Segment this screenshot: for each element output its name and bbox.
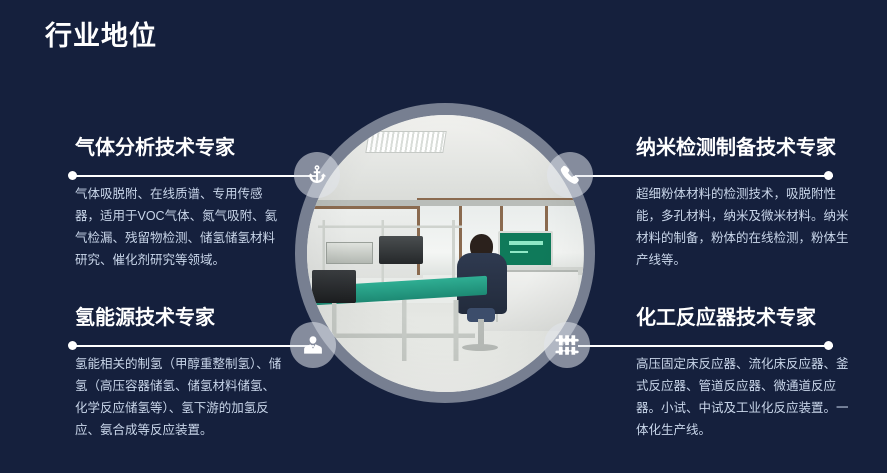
block-gas-analysis-title: 气体分析技术专家 (75, 135, 290, 161)
industry-position-section: 行业地位 (0, 0, 887, 473)
block-nano-detection-title: 纳米检测制备技术专家 (636, 135, 861, 161)
block-hydrogen-energy: 氢能源技术专家 氢能相关的制氢（甲醇重整制氢）、储氢（高压容器储氢、储氢材料储氢… (75, 305, 290, 441)
person-icon-circle[interactable] (290, 322, 336, 368)
phone-icon-circle[interactable] (547, 152, 593, 198)
block-chemical-reactor-body: 高压固定床反应器、流化床反应器、釜式反应器、管道反应器、微通道反应器。小试、中试… (636, 353, 854, 441)
block-gas-analysis: 气体分析技术专家 气体吸脱附、在线质谱、专用传感器，适用于VOC气体、氮气吸附、… (75, 135, 290, 271)
lab-photo (307, 115, 584, 392)
anchor-icon-circle[interactable] (294, 152, 340, 198)
block-hydrogen-energy-title: 氢能源技术专家 (75, 305, 290, 331)
block-chemical-reactor-title: 化工反应器技术专家 (636, 305, 861, 331)
block-nano-detection: 纳米检测制备技术专家 超细粉体材料的检测技术，吸脱附性能，多孔材料，纳米及微米材… (636, 135, 861, 271)
person-icon (301, 333, 325, 357)
phone-icon (558, 163, 582, 187)
block-nano-detection-body: 超细粉体材料的检测技术，吸脱附性能，多孔材料，纳米及微米材料。纳米材料的制备，粉… (636, 183, 851, 271)
block-chemical-reactor: 化工反应器技术专家 高压固定床反应器、流化床反应器、釜式反应器、管道反应器、微通… (636, 305, 861, 441)
lab-illustration (307, 115, 584, 392)
puzzle-icon-circle[interactable] (544, 322, 590, 368)
puzzle-icon (555, 333, 579, 357)
page-title: 行业地位 (45, 19, 157, 53)
block-gas-analysis-body: 气体吸脱附、在线质谱、专用传感器，适用于VOC气体、氮气吸附、氦气检漏、残留物检… (75, 183, 283, 271)
block-hydrogen-energy-body: 氢能相关的制氢（甲醇重整制氢）、储氢（高压容器储氢、储氢材料储氢、化学反应储氢等… (75, 353, 287, 441)
anchor-icon (305, 163, 329, 187)
